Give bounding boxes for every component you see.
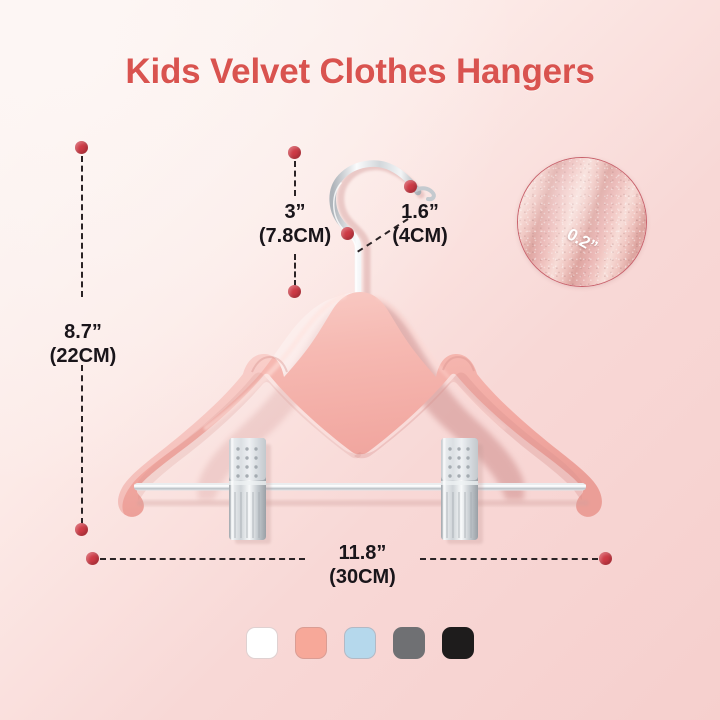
dimension-dot-height-bottom bbox=[75, 523, 88, 536]
dimension-inches-height: 8.7” bbox=[64, 321, 102, 343]
dimension-inches-width: 11.8” bbox=[339, 542, 387, 564]
dimension-dot-height-top bbox=[75, 141, 88, 154]
dimension-label-overall-width: 11.8” (30CM) bbox=[300, 541, 425, 590]
dimension-cm-hook: (7.8CM) bbox=[233, 224, 357, 248]
dimension-line-width-left bbox=[100, 558, 305, 560]
dimension-line-width-right bbox=[420, 558, 598, 560]
hanger-clip-right[interactable] bbox=[441, 438, 483, 544]
hanger-clip-left[interactable] bbox=[229, 438, 271, 544]
dimension-dot-hook-top bbox=[288, 146, 301, 159]
dimension-label-hook-opening: 1.6” (4CM) bbox=[365, 200, 475, 249]
dimension-cm-height: (22CM) bbox=[18, 344, 148, 368]
dimension-line-height-upper bbox=[81, 156, 83, 297]
velvet-texture-magnifier bbox=[517, 157, 647, 287]
dimension-line-hook-upper bbox=[294, 161, 296, 196]
color-swatch-light-blue[interactable] bbox=[344, 627, 376, 659]
velvet-highlight bbox=[518, 158, 646, 286]
dimension-label-hook-height: 3” (7.8CM) bbox=[233, 200, 357, 249]
color-options bbox=[0, 627, 720, 659]
dimension-cm-opening: (4CM) bbox=[365, 224, 475, 248]
dimension-line-height-lower bbox=[81, 365, 83, 524]
dimension-dot-opening-upper bbox=[404, 180, 417, 193]
color-swatch-white[interactable] bbox=[246, 627, 278, 659]
color-swatch-grey[interactable] bbox=[393, 627, 425, 659]
dimension-label-overall-height: 8.7” (22CM) bbox=[18, 320, 148, 369]
color-swatch-pink[interactable] bbox=[295, 627, 327, 659]
color-swatch-black[interactable] bbox=[442, 627, 474, 659]
dimension-cm-width: (30CM) bbox=[300, 565, 425, 589]
product-infographic: Kids Velvet Clothes Hangers bbox=[0, 0, 720, 720]
dimension-inches-opening: 1.6” bbox=[401, 201, 439, 223]
dimension-dot-width-left bbox=[86, 552, 99, 565]
dimension-line-hook-lower bbox=[294, 254, 296, 286]
dimension-dot-hook-bottom bbox=[288, 285, 301, 298]
dimension-dot-width-right bbox=[599, 552, 612, 565]
dimension-inches-hook: 3” bbox=[284, 201, 305, 223]
